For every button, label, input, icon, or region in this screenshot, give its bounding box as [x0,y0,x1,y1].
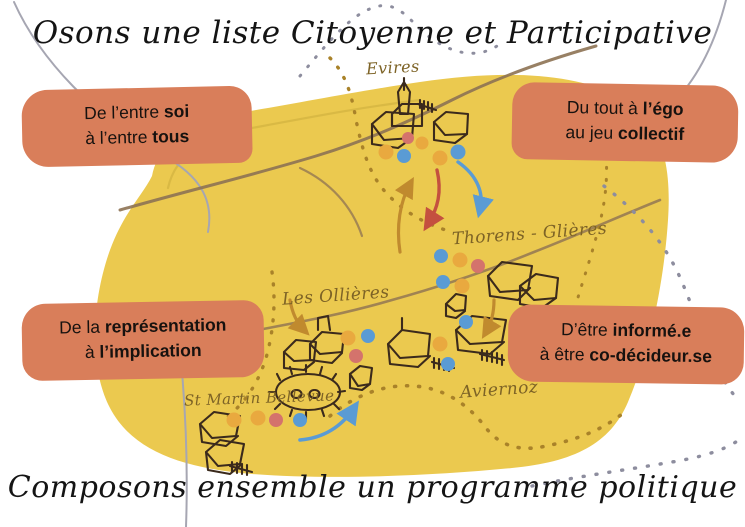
callout-br-l2-plain: à être [540,344,590,365]
callout-tl-l2-plain: à l’entre [85,127,153,148]
page-title-bottom: Composons ensemble un programme politiqu… [0,470,745,505]
callout-top-right[interactable]: Du tout à l’égo au jeu collectif [511,82,738,163]
callout-top-left-line2: à l’entre tous [40,123,234,152]
callout-bl-l2-bold: l’implication [99,340,201,362]
callout-br-l1-bold: informé.e [612,320,691,341]
callout-bl-l1-bold: représentation [105,315,227,337]
callout-bottom-right-line2: à être co-décideur.se [526,342,726,370]
callout-br-l1-plain: D’être [561,319,613,340]
callout-bottom-left-line2: à l’implication [40,338,246,367]
callout-tr-l2-plain: au jeu [565,122,618,143]
callout-top-right-line2: au jeu collectif [530,120,720,149]
callout-tr-l1-plain: Du tout à [567,97,643,118]
map-illustration [0,0,745,527]
callout-tr-l1-bold: l’égo [643,98,684,119]
callout-top-right-line1: Du tout à l’égo [530,94,720,123]
callout-bottom-left-line1: De la représentation [40,312,246,341]
callout-tl-l1-plain: De l’entre [84,101,164,123]
callout-bottom-right-line1: D’être informé.e [526,317,726,345]
page-title-top: Osons une liste Citoyenne et Participati… [0,15,745,51]
callout-bottom-left[interactable]: De la représentation à l’implication [21,300,264,381]
callout-tl-l1-bold: soi [164,101,190,122]
callout-top-left[interactable]: De l’entre soi à l’entre tous [21,86,253,168]
callout-tr-l2-bold: collectif [618,123,684,144]
callout-br-l2-bold: co-décideur.se [589,345,712,367]
callout-bottom-right[interactable]: D’être informé.e à être co-décideur.se [507,304,744,384]
poster-canvas: Osons une liste Citoyenne et Participati… [0,0,745,527]
callout-bl-l2-plain: à [85,342,100,362]
callout-bl-l1-plain: De la [59,317,105,338]
map-label-evires: Evires [366,57,420,79]
callout-tl-l2-bold: tous [152,126,189,147]
